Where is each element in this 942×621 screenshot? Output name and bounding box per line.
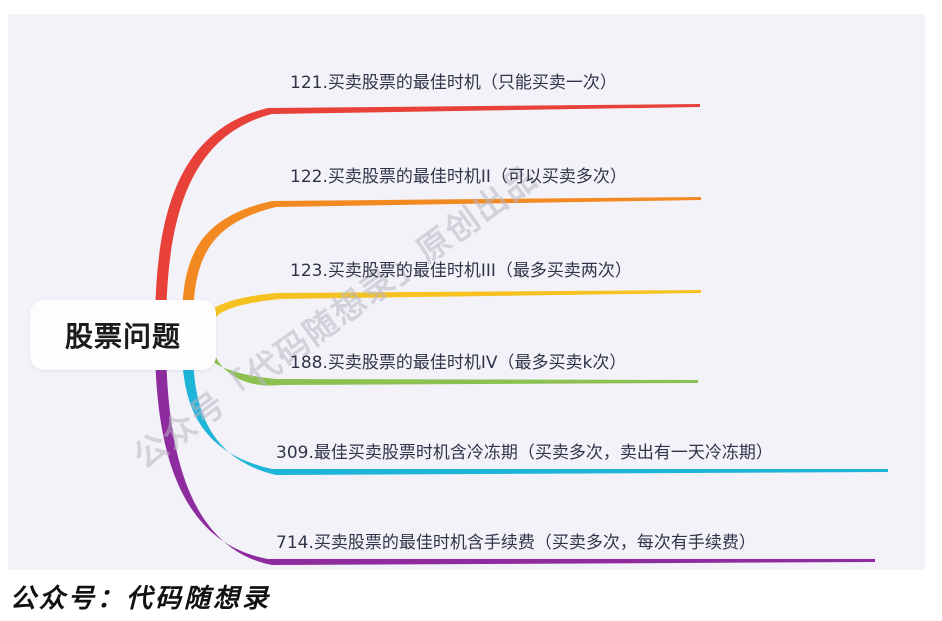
mindmap-root: 公众号「代码随想录」原创出品 股票问题 121.买卖股票的最佳时机（只能买卖一次…: [0, 0, 942, 621]
footer-signature: 公众号：代码随想录: [10, 578, 271, 615]
branch-label-121[interactable]: 121.买卖股票的最佳时机（只能买卖一次）: [290, 68, 617, 93]
branch-label-123[interactable]: 123.买卖股票的最佳时机III（最多买卖两次）: [290, 256, 632, 281]
branch-label-188[interactable]: 188.买卖股票的最佳时机IV（最多买卖k次）: [290, 348, 626, 373]
mindmap-canvas: [8, 14, 925, 570]
center-node-label: 股票问题: [65, 315, 181, 355]
center-node[interactable]: 股票问题: [30, 300, 216, 370]
branch-label-122[interactable]: 122.买卖股票的最佳时机II（可以买卖多次）: [290, 162, 627, 187]
branch-label-714[interactable]: 714.买卖股票的最佳时机含手续费（买卖多次，每次有手续费）: [276, 528, 756, 553]
branch-label-309[interactable]: 309.最佳买卖股票时机含冷冻期（买卖多次，卖出有一天冷冻期）: [276, 438, 773, 463]
